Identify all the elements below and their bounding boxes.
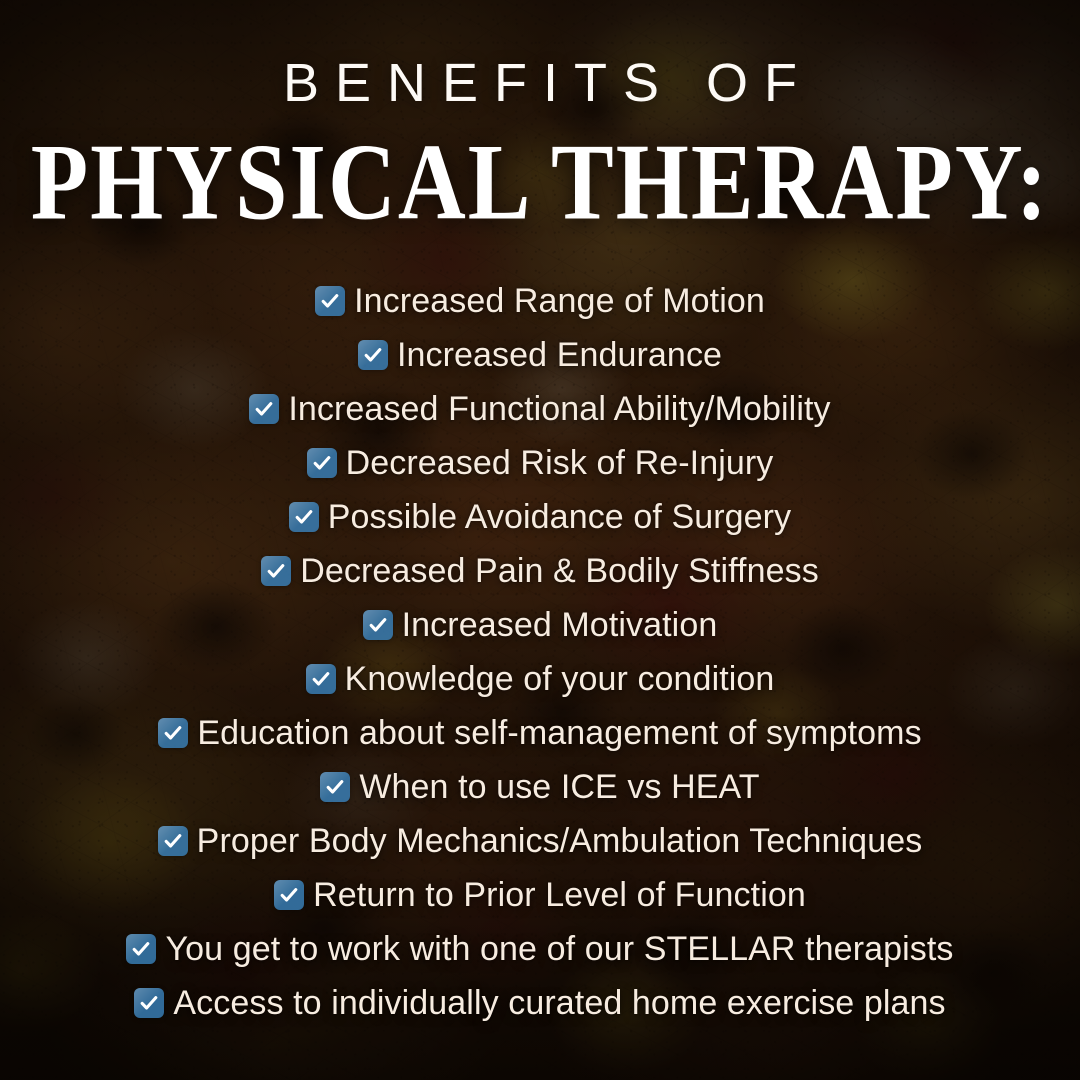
poster-canvas: BENEFITS OF PHYSICAL THERAPY: Increased … [0,0,1080,1080]
check-box-icon [249,394,279,424]
check-box-icon [289,502,319,532]
title-kicker: BENEFITS OF [0,56,1080,110]
benefit-item: Increased Functional Ability/Mobility [249,384,830,435]
benefit-label: You get to work with one of our STELLAR … [165,932,953,966]
benefit-label: Knowledge of your condition [345,662,775,696]
check-box-icon [315,286,345,316]
benefit-label: Return to Prior Level of Function [313,878,806,912]
page-title: PHYSICAL THERAPY: [0,128,1080,239]
check-box-icon [126,934,156,964]
check-box-icon [158,718,188,748]
benefit-item: Decreased Risk of Re-Injury [307,438,774,489]
benefit-item: Return to Prior Level of Function [274,870,806,921]
check-box-icon [320,772,350,802]
poster-content: BENEFITS OF PHYSICAL THERAPY: Increased … [0,0,1080,1080]
benefit-item: Decreased Pain & Bodily Stiffness [261,546,819,597]
benefit-label: Increased Range of Motion [354,284,765,318]
check-box-icon [158,826,188,856]
check-box-icon [307,448,337,478]
check-box-icon [261,556,291,586]
benefits-checklist: Increased Range of MotionIncreased Endur… [0,276,1080,1029]
check-box-icon [134,988,164,1018]
benefit-label: When to use ICE vs HEAT [359,770,759,804]
benefit-item: Access to individually curated home exer… [134,978,945,1029]
benefit-item: Increased Range of Motion [315,276,765,327]
title-block: BENEFITS OF PHYSICAL THERAPY: [0,0,1080,224]
check-box-icon [358,340,388,370]
benefit-label: Education about self-management of sympt… [197,716,921,750]
benefit-label: Decreased Pain & Bodily Stiffness [300,554,819,588]
check-box-icon [363,610,393,640]
benefit-item: Increased Motivation [363,600,718,651]
benefit-item: Knowledge of your condition [306,654,775,705]
benefit-label: Proper Body Mechanics/Ambulation Techniq… [197,824,923,858]
benefit-item: Possible Avoidance of Surgery [289,492,791,543]
benefit-label: Increased Motivation [402,608,718,642]
benefit-label: Possible Avoidance of Surgery [328,500,791,534]
benefit-item: Increased Endurance [358,330,722,381]
check-box-icon [274,880,304,910]
check-box-icon [306,664,336,694]
benefit-label: Increased Endurance [397,338,722,372]
benefit-item: When to use ICE vs HEAT [320,762,759,813]
benefit-item: Education about self-management of sympt… [158,708,921,759]
benefit-item: Proper Body Mechanics/Ambulation Techniq… [158,816,923,867]
benefit-item: You get to work with one of our STELLAR … [126,924,953,975]
benefit-label: Decreased Risk of Re-Injury [346,446,774,480]
benefit-label: Increased Functional Ability/Mobility [288,392,830,426]
benefit-label: Access to individually curated home exer… [173,986,945,1020]
